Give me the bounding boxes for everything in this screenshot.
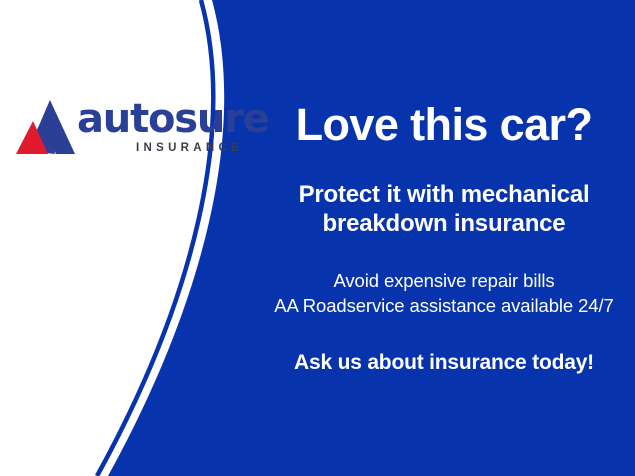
headline: Love this car? [253,100,635,150]
call-to-action-text: Ask us about insurance today! [257,350,631,376]
subheadline-line-2: breakdown insurance [323,210,566,237]
autosure-insurance-banner: autosure INSURANCE Love this car? Protec… [0,0,635,476]
autosure-mountain-mark-icon [14,99,76,157]
autosure-logo: autosure INSURANCE [14,96,229,166]
subheadline-line-1: Protect it with mechanical [299,181,590,208]
logo-wordmark: autosure [77,96,269,142]
subheadline: Protect it with mechanical breakdown ins… [261,180,627,238]
benefit-item: Avoid expensive repair bills [255,268,633,293]
benefit-item: AA Roadservice assistance available 24/7 [255,293,633,318]
logo-tagline: INSURANCE [136,142,243,154]
benefit-list: Avoid expensive repair bills AA Roadserv… [255,268,633,318]
advert-copy-block: Love this car? Protect it with mechanica… [253,0,635,476]
